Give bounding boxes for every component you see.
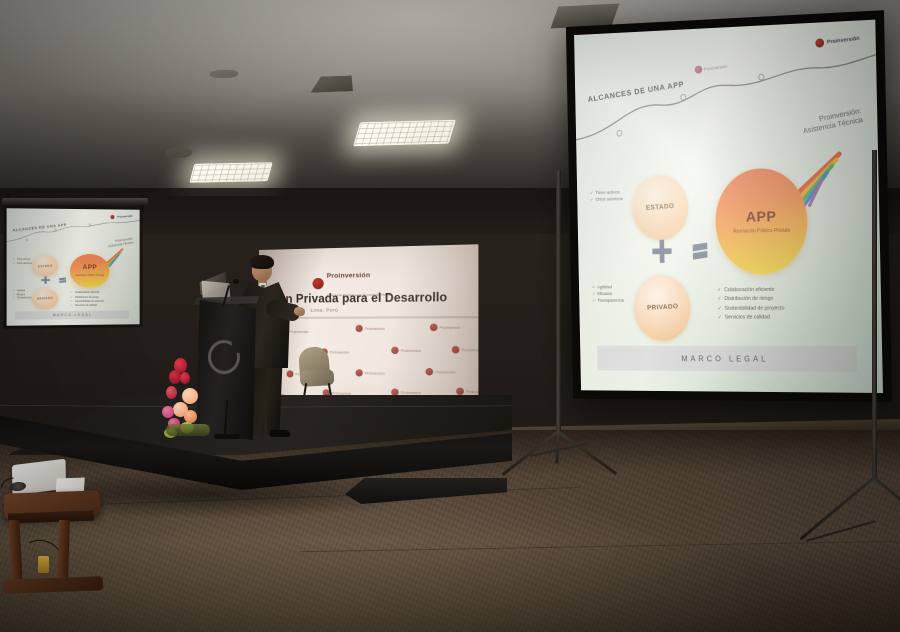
bubble-app-subtitle: Asociación Público Privada xyxy=(725,227,798,235)
bullet-label: Agilidad xyxy=(597,284,612,289)
checklist-item: Servicios de calidad xyxy=(725,315,770,321)
screen-tripod-pole xyxy=(556,170,561,432)
speaker-shoe xyxy=(270,430,290,437)
screen-roller-housing xyxy=(2,198,148,205)
tripod-projection-screen: ALCANCES DE UNA APP Proinversión Proinve… xyxy=(566,10,892,402)
check-icon: ✓ xyxy=(592,284,596,289)
check-icon: ✓ xyxy=(590,197,594,202)
bullet-label: Otros servicios xyxy=(595,196,622,201)
app-sub-line2: Privada xyxy=(774,228,790,234)
marco-legal-label: MARCO LEGAL xyxy=(681,354,768,363)
bullets-estado: ✓Tiene activos ✓Otros servicios xyxy=(590,188,623,202)
ceiling-vent xyxy=(209,70,239,78)
check-icon: ✓ xyxy=(592,298,596,303)
proinversion-logo-mark xyxy=(815,38,824,48)
floral-base xyxy=(166,424,210,436)
slide-content-large: ALCANCES DE UNA APP Proinversión Proinve… xyxy=(574,20,883,393)
check-icon: ✓ xyxy=(717,287,721,293)
checklist-benefits: ✓Colaboración eficiente ✓Distribución de… xyxy=(717,285,785,323)
bullet-label: Eficacia xyxy=(597,291,612,296)
check-icon: ✓ xyxy=(717,306,721,312)
glasses-icon xyxy=(253,266,271,271)
conference-hall-photo: ALCANCES DE UNA APP Proinversión Proinve… xyxy=(0,0,900,632)
plus-sign-icon xyxy=(652,239,672,263)
microphone-head xyxy=(233,279,239,284)
check-icon: ✓ xyxy=(592,291,596,296)
checklist-item: Sostenibilidad de proyecto xyxy=(724,305,784,311)
equals-sign-icon xyxy=(692,243,707,261)
wall-projection-screen: ALCANCES DE UNA APP Proinversión Proinve… xyxy=(4,205,143,329)
secondary-logo-mark xyxy=(694,66,702,75)
checklist-item: Colaboración eficiente xyxy=(724,286,774,292)
projection-surface: ALCANCES DE UNA APP Proinversión Proinve… xyxy=(574,20,883,393)
marco-legal-band: MARCO LEGAL xyxy=(597,346,857,372)
bubble-privado: PRIVADO xyxy=(634,275,691,340)
check-icon: ✓ xyxy=(718,315,722,321)
app-sub-line1: Asociación Público xyxy=(733,228,773,235)
checklist-item: Distribución de riesgo xyxy=(724,296,773,302)
ceiling-light-panel xyxy=(189,162,273,183)
bullets-privado: ✓Agilidad ✓Eficacia ✓Transparencia xyxy=(592,283,624,304)
check-icon: ✓ xyxy=(717,296,721,302)
bubble-estado: ESTADO xyxy=(632,174,689,240)
bullet-label: Tiene activos xyxy=(595,189,619,194)
slide-brand-logo: Proinversión xyxy=(815,34,860,48)
slide-brand-text: Proinversión xyxy=(827,35,860,45)
bubble-estado-label: ESTADO xyxy=(646,203,675,212)
bullet-label: Transparencia xyxy=(597,298,623,303)
bubble-app-label: APP xyxy=(746,208,777,225)
bubble-privado-label: PRIVADO xyxy=(647,304,679,313)
screen-tripod-pole xyxy=(872,150,877,478)
ceiling-light-panel xyxy=(353,120,456,147)
check-icon: ✓ xyxy=(590,190,594,195)
